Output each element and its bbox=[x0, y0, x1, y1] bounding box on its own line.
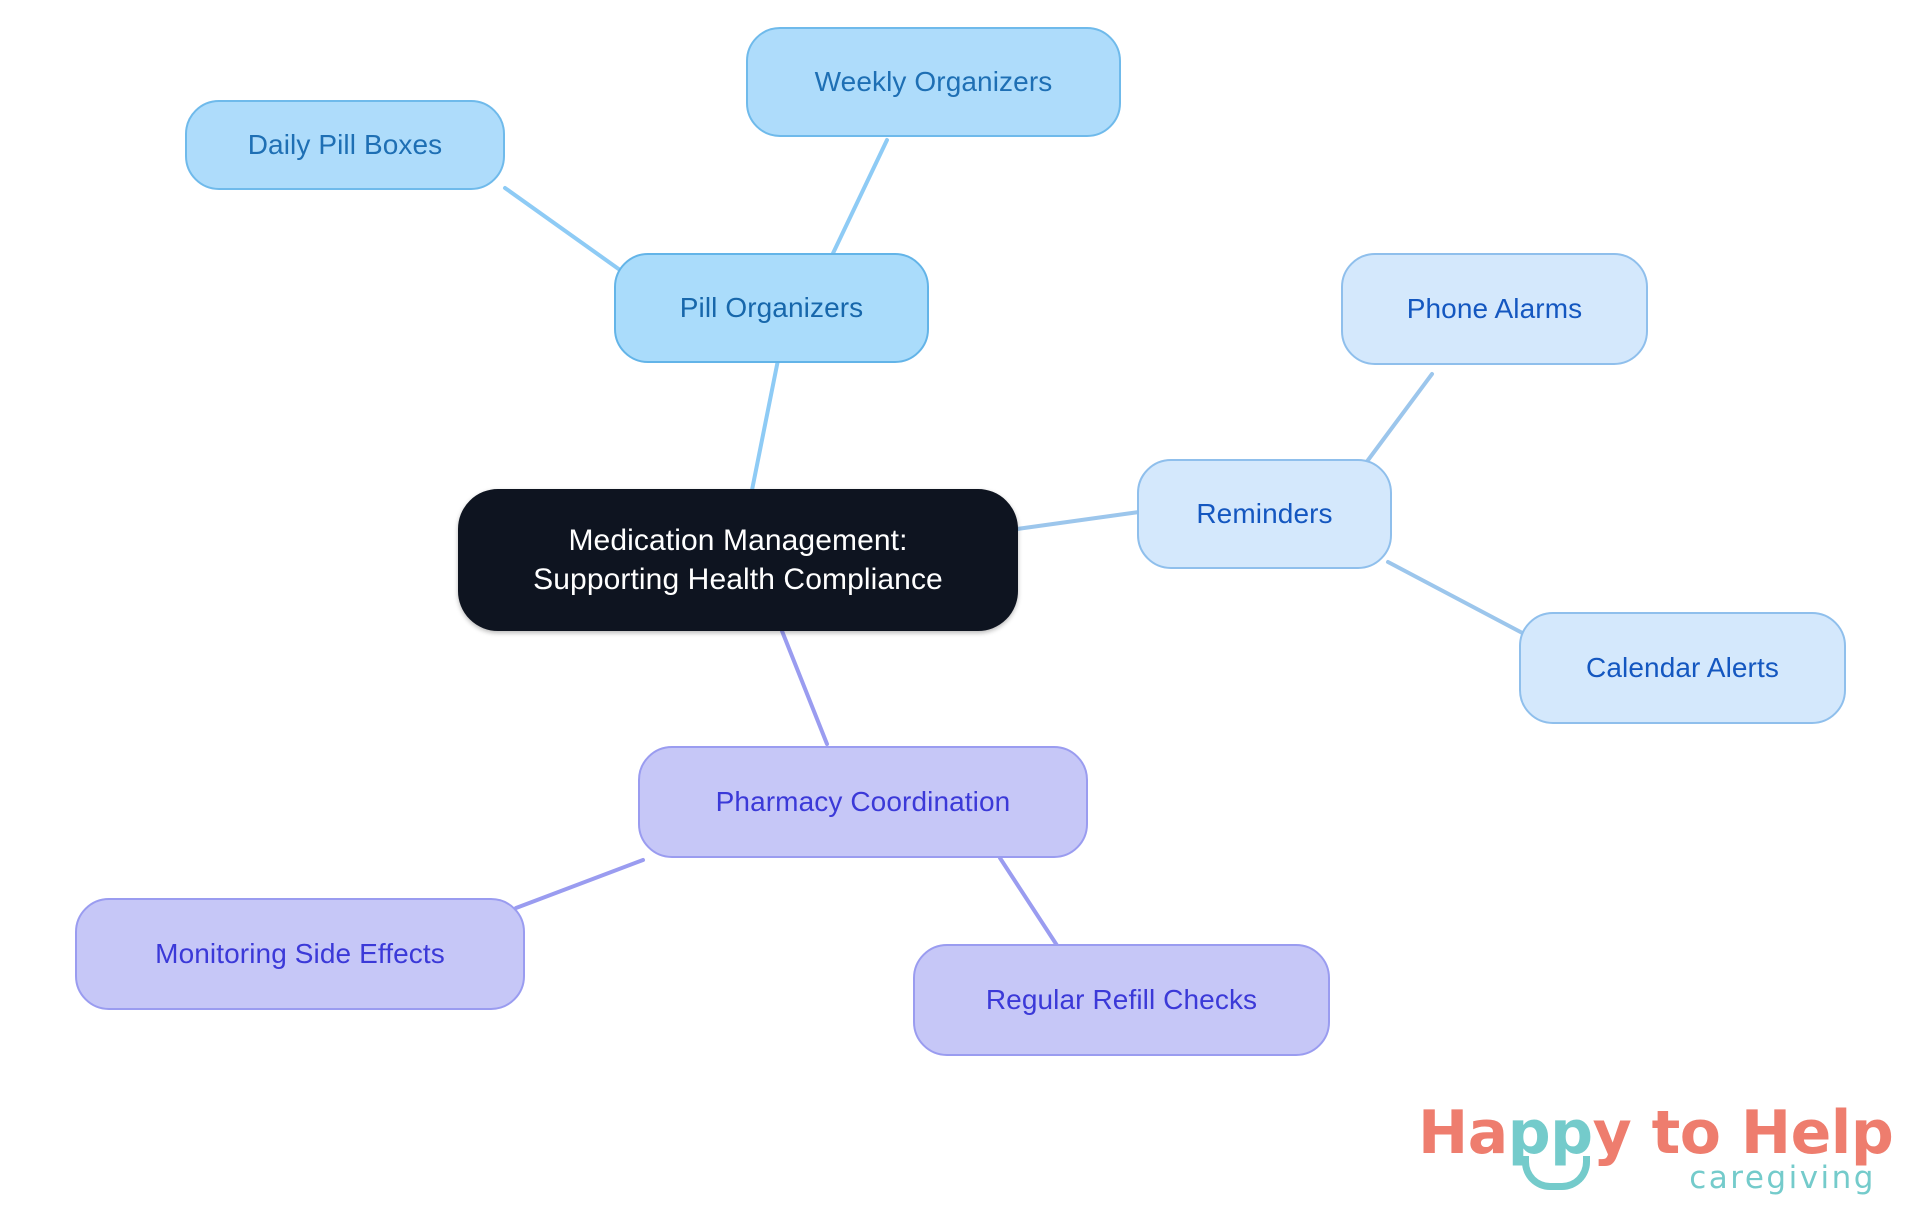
node-monitoring-side-effects[interactable]: Monitoring Side Effects bbox=[75, 898, 525, 1010]
brand-logo: Happy to Help caregiving bbox=[1418, 1098, 1878, 1206]
edge-pill-organizers-to-daily-pill-boxes bbox=[505, 188, 620, 270]
node-label: Pharmacy Coordination bbox=[716, 784, 1011, 820]
edge-root-to-reminders bbox=[1017, 512, 1139, 529]
edge-pharmacy-to-monitoring-side-effects bbox=[516, 860, 643, 908]
edge-reminders-to-calendar-alerts bbox=[1388, 562, 1530, 637]
logo-word-part-1: Ha bbox=[1418, 1098, 1508, 1168]
smile-icon bbox=[1522, 1156, 1590, 1190]
node-pill-organizers[interactable]: Pill Organizers bbox=[614, 253, 929, 363]
node-daily-pill-boxes[interactable]: Daily Pill Boxes bbox=[185, 100, 505, 190]
node-label: Regular Refill Checks bbox=[986, 982, 1257, 1018]
node-pharmacy-coordination[interactable]: Pharmacy Coordination bbox=[638, 746, 1088, 858]
logo-tagline: caregiving bbox=[1689, 1160, 1876, 1196]
node-label: Medication Management: Supporting Health… bbox=[533, 521, 943, 599]
edge-pill-organizers-to-weekly-organizers bbox=[826, 140, 887, 268]
edge-pharmacy-to-regular-refill-checks bbox=[1000, 858, 1060, 950]
node-reminders[interactable]: Reminders bbox=[1137, 459, 1392, 569]
node-label: Reminders bbox=[1196, 496, 1332, 532]
node-weekly-organizers[interactable]: Weekly Organizers bbox=[746, 27, 1121, 137]
logo-word-part-2: y to Help bbox=[1593, 1098, 1894, 1168]
logo-wordmark: Happy to Help bbox=[1418, 1098, 1893, 1168]
node-label: Daily Pill Boxes bbox=[248, 127, 443, 163]
node-label: Weekly Organizers bbox=[815, 64, 1053, 100]
node-phone-alarms[interactable]: Phone Alarms bbox=[1341, 253, 1648, 365]
node-calendar-alerts[interactable]: Calendar Alerts bbox=[1519, 612, 1846, 724]
mindmap-canvas: Daily Pill Boxes Weekly Organizers Pill … bbox=[0, 0, 1920, 1215]
edge-root-to-pill-organizers bbox=[752, 360, 778, 490]
node-regular-refill-checks[interactable]: Regular Refill Checks bbox=[913, 944, 1330, 1056]
node-label: Pill Organizers bbox=[680, 290, 864, 326]
node-label: Phone Alarms bbox=[1407, 291, 1583, 327]
node-label: Calendar Alerts bbox=[1586, 650, 1779, 686]
node-label: Monitoring Side Effects bbox=[155, 936, 445, 972]
node-root-medication-management[interactable]: Medication Management: Supporting Health… bbox=[458, 489, 1018, 631]
edge-root-to-pharmacy-coordination bbox=[782, 631, 827, 744]
